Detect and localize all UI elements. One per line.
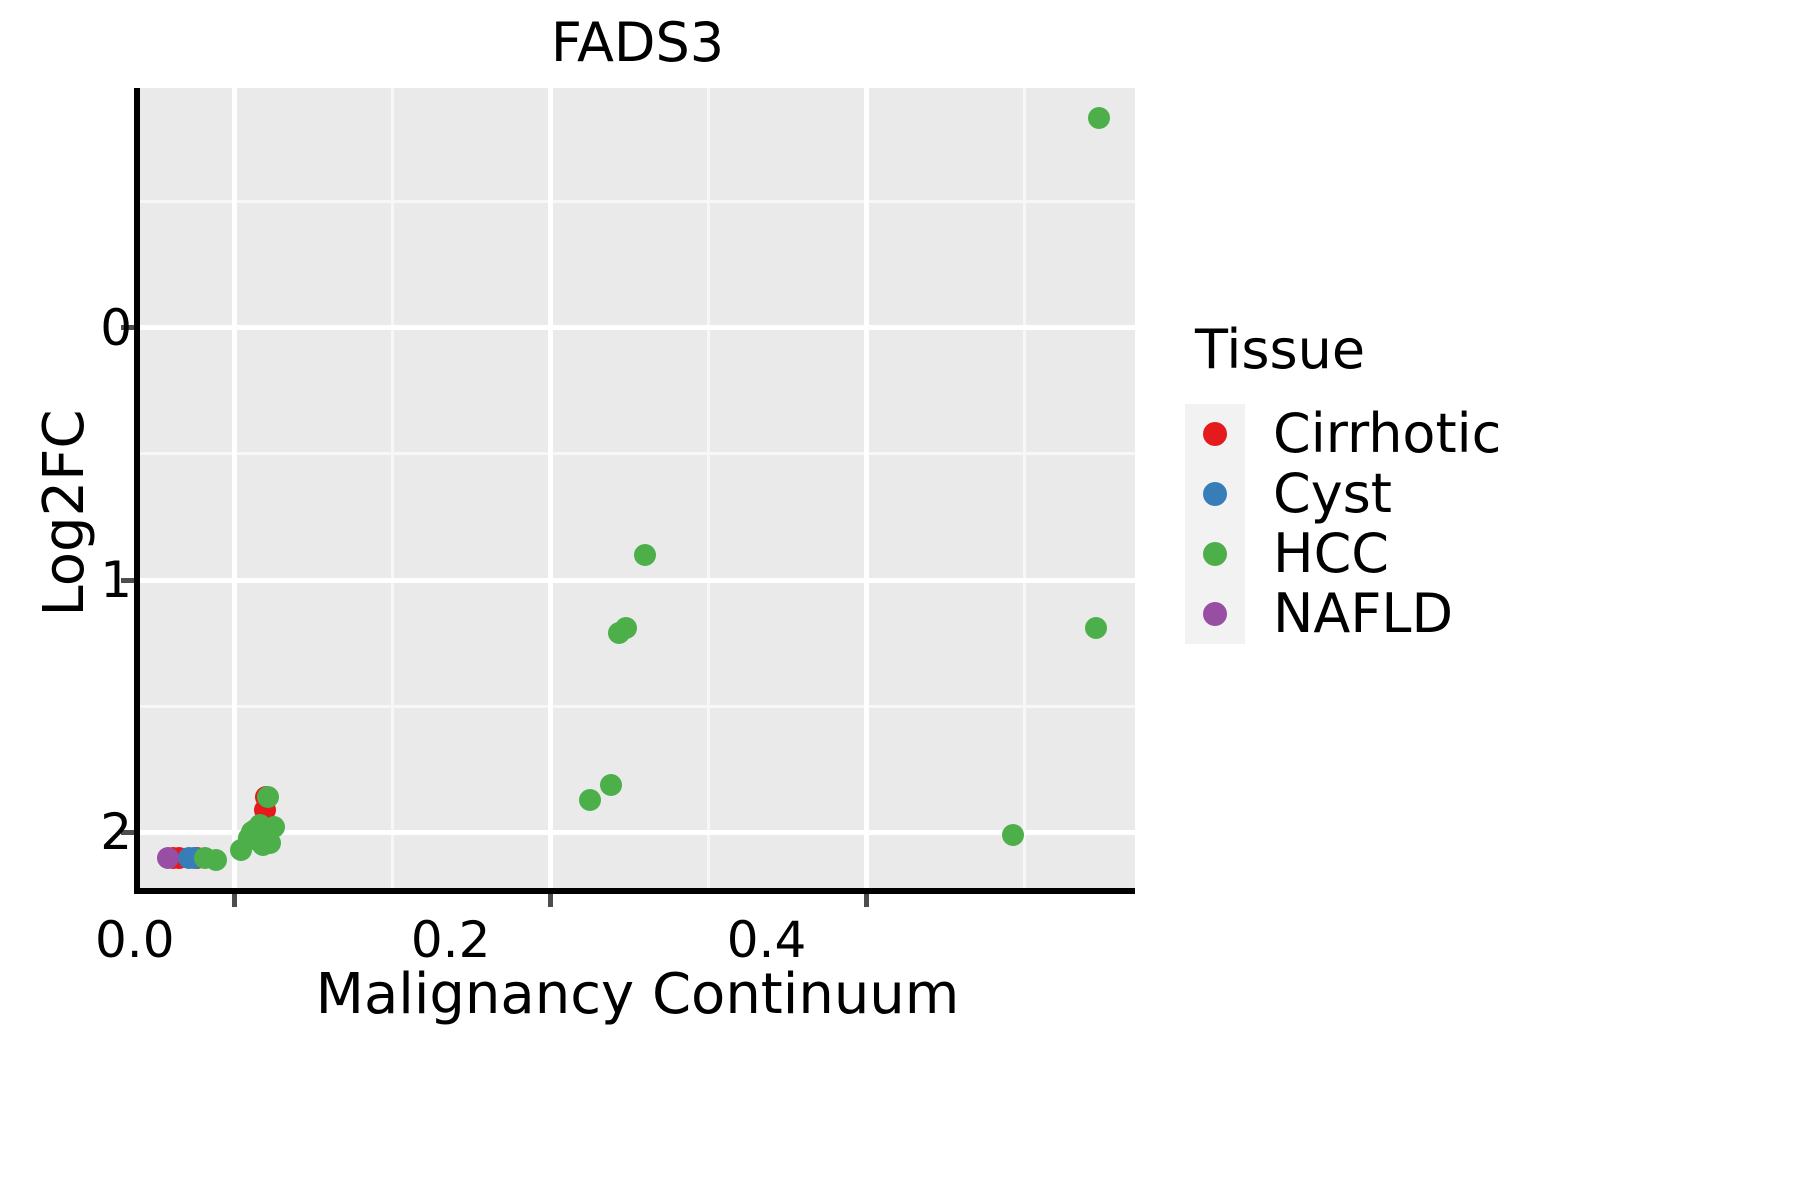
- plot-panel: [140, 88, 1135, 888]
- data-point: [600, 774, 622, 796]
- scatter-plot-figure: FADS3 210 0.00.20.4 Malignancy Continuum…: [0, 0, 1800, 1200]
- legend-item-label: NAFLD: [1273, 584, 1453, 644]
- data-point: [579, 789, 601, 811]
- gridline-minor-vertical: [707, 88, 710, 888]
- legend-dot-icon: [1203, 602, 1227, 626]
- data-point: [257, 786, 279, 808]
- y-tick-label: 1: [100, 555, 132, 605]
- legend-item-label: Cyst: [1273, 464, 1392, 524]
- x-axis-label: Malignancy Continuum: [140, 960, 1135, 1030]
- legend-dot-icon: [1203, 542, 1227, 566]
- gridline-minor-horizontal: [140, 200, 1135, 203]
- page-title: FADS3: [140, 8, 1135, 78]
- data-point: [1088, 107, 1110, 129]
- gridline-minor-vertical: [1023, 88, 1026, 888]
- legend-items: CirrhoticCystHCCNAFLD: [1185, 404, 1785, 644]
- x-tick-mark: [232, 894, 237, 907]
- legend-dot-icon: [1203, 422, 1227, 446]
- gridline-major-vertical: [864, 88, 869, 888]
- gridline-minor-horizontal: [140, 705, 1135, 708]
- gridline-major-horizontal: [140, 830, 1135, 835]
- gridline-major-vertical: [232, 88, 237, 888]
- y-tick-label: 0: [100, 303, 132, 353]
- legend-item-hcc[interactable]: HCC: [1185, 524, 1785, 584]
- legend-item-label: Cirrhotic: [1273, 404, 1501, 464]
- gridline-major-horizontal: [140, 325, 1135, 330]
- gridline-major-vertical: [548, 88, 553, 888]
- legend-title: Tissue: [1195, 318, 1785, 382]
- gridline-major-horizontal: [140, 578, 1135, 583]
- data-point: [615, 617, 637, 639]
- data-point: [1002, 824, 1024, 846]
- legend-item-label: HCC: [1273, 524, 1389, 584]
- legend-dot-icon: [1203, 482, 1227, 506]
- gridline-minor-horizontal: [140, 452, 1135, 455]
- legend-key-swatch: [1185, 584, 1245, 644]
- y-axis-line: [134, 88, 140, 894]
- x-tick-mark: [548, 894, 553, 907]
- y-axis-label: Log2FC: [35, 213, 95, 813]
- legend-item-nafld[interactable]: NAFLD: [1185, 584, 1785, 644]
- legend-item-cyst[interactable]: Cyst: [1185, 464, 1785, 524]
- y-tick-label: 2: [100, 807, 132, 857]
- data-point: [157, 847, 179, 869]
- data-point: [1085, 617, 1107, 639]
- legend-key-swatch: [1185, 404, 1245, 464]
- legend: Tissue CirrhoticCystHCCNAFLD: [1185, 318, 1785, 644]
- legend-key-swatch: [1185, 464, 1245, 524]
- x-tick-mark: [864, 894, 869, 907]
- data-point: [263, 816, 285, 838]
- x-axis-line: [134, 888, 1135, 894]
- legend-item-cirrhotic[interactable]: Cirrhotic: [1185, 404, 1785, 464]
- data-point: [205, 849, 227, 871]
- gridline-minor-vertical: [391, 88, 394, 888]
- data-point: [634, 544, 656, 566]
- legend-key-swatch: [1185, 524, 1245, 584]
